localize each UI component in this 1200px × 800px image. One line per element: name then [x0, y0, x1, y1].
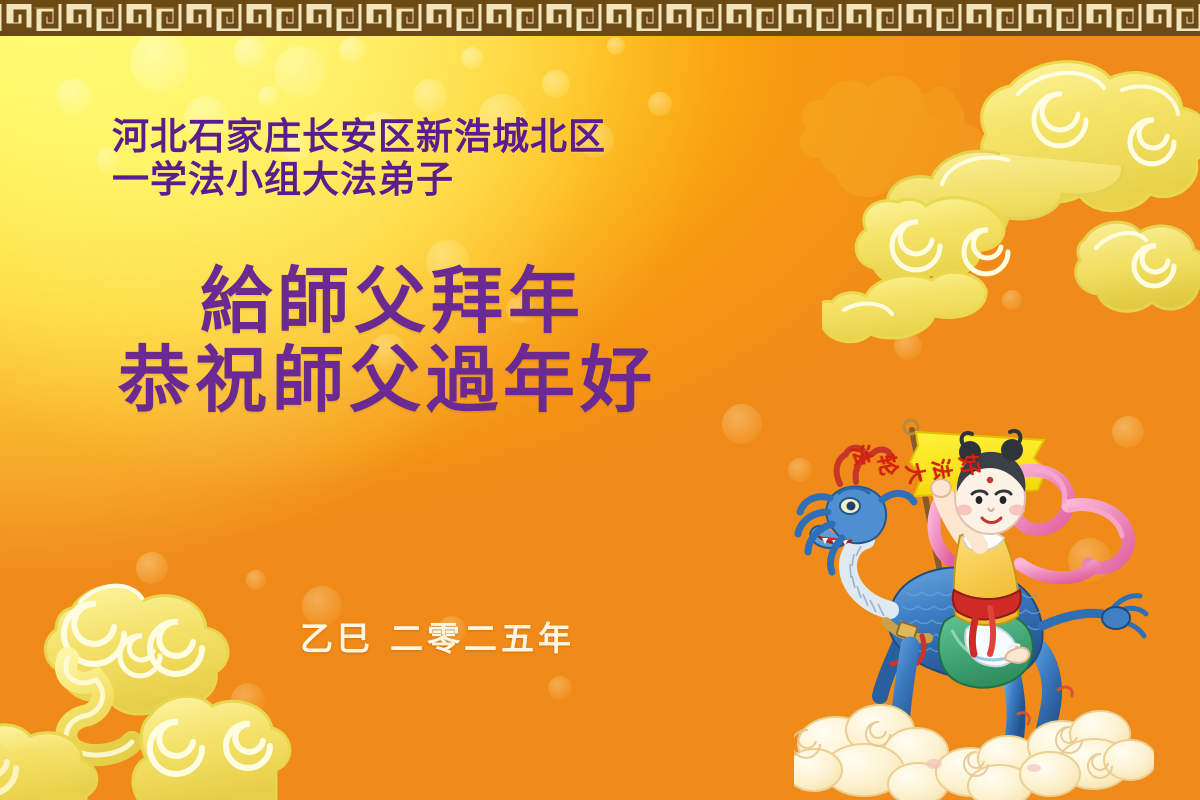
bokeh-circle	[894, 332, 922, 360]
bokeh-circle	[413, 79, 447, 113]
bokeh-circle	[274, 46, 326, 98]
bokeh-circle	[231, 683, 265, 717]
zodiac-cycle-label: 乙巳	[300, 619, 374, 658]
cloud-ghost-right	[790, 40, 1050, 240]
sender-text-block: 河北石家庄长安区新浩城北区 一学法小组大法弟子	[112, 116, 606, 202]
bokeh-circle	[607, 37, 625, 55]
bokeh-circle	[234, 36, 266, 68]
bokeh-circle	[56, 78, 92, 114]
bokeh-circle	[339, 37, 365, 63]
meander-border-svg	[0, 0, 1200, 36]
greeting-line-2: 恭祝師父過年好	[118, 341, 657, 420]
sender-line-1: 河北石家庄长安区新浩城北区	[112, 116, 606, 159]
year-text-block: 乙巳二零二五年	[300, 612, 575, 660]
child-riding-qilin-illustration	[794, 414, 1154, 800]
cloud-puffs	[794, 705, 1154, 800]
gregorian-year-label: 二零二五年	[390, 619, 575, 658]
bokeh-circle	[542, 70, 570, 98]
bokeh-circle	[246, 570, 266, 590]
greeting-line-1: 給師父拜年	[200, 262, 657, 341]
greek-key-meander-border	[0, 0, 1200, 36]
cloud-right	[822, 34, 1200, 364]
bokeh-circle	[722, 404, 762, 444]
bokeh-circle	[130, 32, 190, 92]
bokeh-circle	[136, 552, 168, 584]
bokeh-circle	[461, 47, 483, 69]
greeting-card: 河北石家庄长安区新浩城北区 一学法小组大法弟子 給師父拜年 恭祝師父過年好 乙巳…	[0, 0, 1200, 800]
bokeh-circle	[648, 92, 672, 116]
bokeh-circle	[258, 86, 278, 106]
greeting-text-block: 給師父拜年 恭祝師父過年好	[118, 262, 657, 420]
bokeh-circle	[548, 676, 572, 700]
cloud-bottom-left-ghost	[0, 670, 160, 800]
bokeh-circle	[1002, 290, 1022, 310]
cloud-bottom-left	[0, 556, 294, 800]
sender-line-2: 一学法小组大法弟子	[112, 159, 606, 202]
